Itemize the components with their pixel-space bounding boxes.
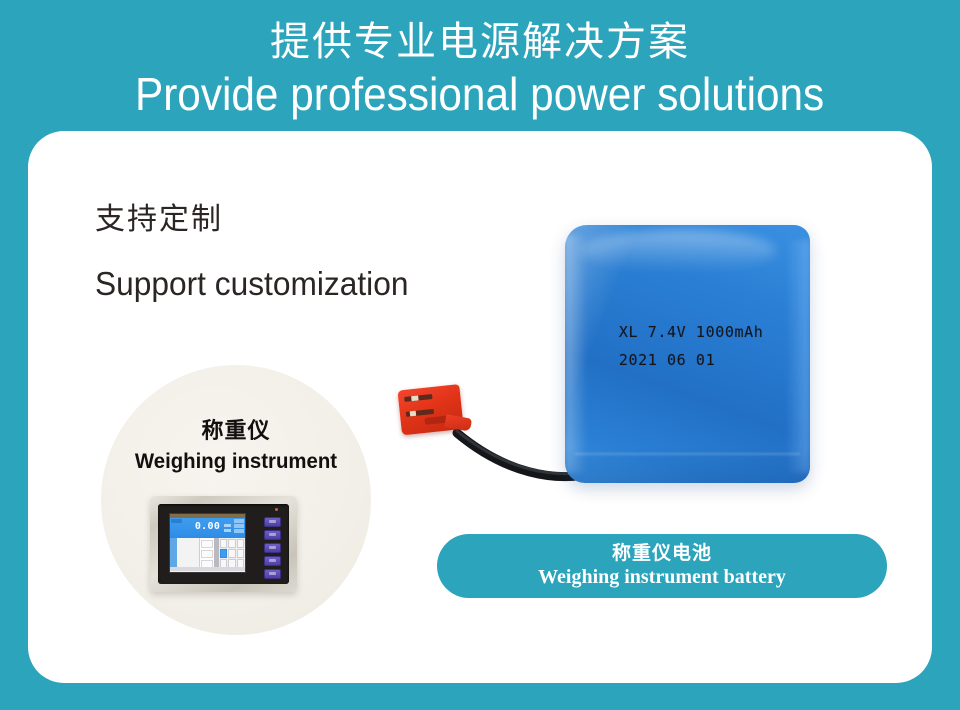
- support-customization-block: 支持定制 Support customization: [95, 200, 422, 306]
- support-title-en: Support customization: [95, 262, 408, 306]
- screen-status-bar: [170, 567, 245, 571]
- screen-key: [228, 549, 235, 558]
- screen-tag-left: [171, 519, 182, 523]
- battery-jst-connector: [397, 384, 468, 443]
- device-button: [264, 569, 281, 579]
- pill-title-cn: 称重仪电池: [612, 542, 712, 565]
- screen-weight-value: 0.00: [195, 521, 220, 532]
- battery-label-line-1: XL 7.4V 1000mAh: [619, 318, 763, 346]
- weighing-instrument-device: 0.00: [150, 496, 297, 592]
- battery-right-edge-highlight: [786, 240, 811, 472]
- device-button-column: [264, 517, 281, 579]
- screen-input-row: [201, 550, 213, 558]
- screen-weight-area: 0.00: [170, 518, 245, 538]
- header-title-en: Provide professional power solutions: [135, 68, 824, 120]
- battery-label-line-2: 2021 06 01: [619, 346, 763, 374]
- connector-pin: [411, 395, 418, 401]
- connector-pin: [410, 411, 416, 417]
- screen-key: [237, 549, 244, 558]
- battery-gloss-highlight: [580, 230, 776, 271]
- screen-unit-chip-1: [224, 524, 231, 527]
- battery-bottom-shadow: [565, 447, 810, 483]
- screen-key: [220, 549, 227, 558]
- screen-key: [228, 539, 235, 548]
- header-title-cn: 提供专业电源解决方案: [270, 16, 690, 68]
- banner-header: 提供专业电源解决方案 Provide professional power so…: [0, 0, 960, 131]
- device-lcd-screen: 0.00: [169, 513, 246, 573]
- battery-name-pill: 称重仪电池 Weighing instrument battery: [437, 534, 887, 598]
- connector-rib: [424, 416, 447, 425]
- screen-control-area: [170, 538, 245, 571]
- screen-unit-chip-2: [224, 529, 231, 532]
- pill-title-en: Weighing instrument battery: [538, 565, 786, 590]
- device-button: [264, 517, 281, 527]
- circle-title-cn: 称重仪: [101, 417, 371, 447]
- device-front-panel: 0.00: [158, 504, 289, 584]
- screen-status-chip-1: [234, 519, 244, 523]
- screen-status-chip-2: [234, 524, 244, 528]
- battery-left-edge-highlight: [565, 235, 587, 472]
- device-power-led-icon: [275, 508, 278, 511]
- device-button: [264, 530, 281, 540]
- support-title-cn: 支持定制: [95, 200, 422, 240]
- battery-cell-body: XL 7.4V 1000mAh 2021 06 01: [565, 225, 810, 483]
- battery-print-label: XL 7.4V 1000mAh 2021 06 01: [619, 318, 763, 374]
- promo-banner: 提供专业电源解决方案 Provide professional power so…: [0, 0, 960, 710]
- device-button: [264, 556, 281, 566]
- circle-caption: 称重仪 Weighing instrument: [101, 417, 371, 476]
- battery-product-image: XL 7.4V 1000mAh 2021 06 01: [395, 215, 825, 490]
- circle-title-en: Weighing instrument: [105, 447, 367, 476]
- screen-key: [220, 539, 227, 548]
- screen-key: [237, 539, 244, 548]
- device-button: [264, 543, 281, 553]
- screen-input-row: [201, 540, 213, 548]
- screen-status-chip-3: [234, 529, 244, 533]
